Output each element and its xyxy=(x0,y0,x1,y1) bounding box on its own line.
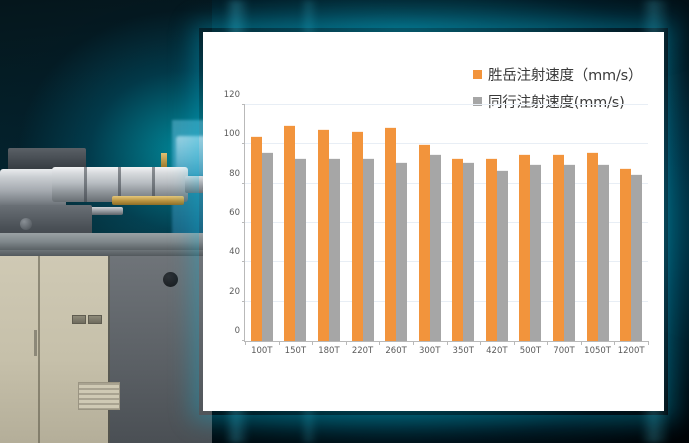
x-tick-mark-6 xyxy=(447,341,448,345)
bar-150T-series-0[interactable] xyxy=(284,125,295,341)
photo-brass-post xyxy=(161,153,167,167)
bar-group xyxy=(279,105,313,341)
bar-700T-series-1[interactable] xyxy=(564,164,575,341)
x-tick-label-220T: 220T xyxy=(346,346,380,356)
photo-barrel-band-1 xyxy=(84,167,87,202)
bar-groups xyxy=(245,105,648,341)
bar-260T-series-1[interactable] xyxy=(396,162,407,341)
x-tick-mark-0 xyxy=(245,341,246,345)
bar-1200T-series-1[interactable] xyxy=(631,174,642,341)
bar-420T-series-1[interactable] xyxy=(497,170,508,341)
x-tick-label-1050T: 1050T xyxy=(581,346,615,356)
x-tick-label-350T: 350T xyxy=(446,346,480,356)
bar-420T-series-0[interactable] xyxy=(486,158,497,341)
photo-cabinet-button-2 xyxy=(88,315,102,324)
x-tick-label-300T: 300T xyxy=(413,346,447,356)
bar-group xyxy=(581,105,615,341)
bar-group xyxy=(547,105,581,341)
bar-350T-series-1[interactable] xyxy=(463,162,474,341)
bar-1050T-series-1[interactable] xyxy=(598,164,609,341)
x-tick-label-700T: 700T xyxy=(547,346,581,356)
bar-100T-series-1[interactable] xyxy=(262,152,273,341)
bar-500T-series-1[interactable] xyxy=(530,164,541,341)
bar-group xyxy=(480,105,514,341)
photo-brass-rod xyxy=(112,196,184,205)
x-tick-label-100T: 100T xyxy=(245,346,279,356)
photo-cabinet-handle xyxy=(34,330,37,356)
bar-group xyxy=(245,105,279,341)
x-tick-mark-8 xyxy=(514,341,515,345)
bar-group xyxy=(346,105,380,341)
bar-group xyxy=(312,105,346,341)
bar-1200T-series-0[interactable] xyxy=(620,168,631,341)
x-tick-label-420T: 420T xyxy=(480,346,514,356)
bar-180T-series-0[interactable] xyxy=(318,129,329,341)
plot-area: 020406080100120 xyxy=(245,105,648,341)
slide-root: 胜岳注射速度（mm/s） 同行注射速度(mm/s) 02040608010012… xyxy=(0,0,689,443)
x-tick-mark-2 xyxy=(312,341,313,345)
bar-300T-series-0[interactable] xyxy=(419,144,430,341)
bar-group xyxy=(413,105,447,341)
photo-cabinet-seam-1 xyxy=(38,256,40,443)
x-tick-mark-5 xyxy=(413,341,414,345)
bar-1050T-series-0[interactable] xyxy=(587,152,598,341)
x-tick-mark-7 xyxy=(480,341,481,345)
x-tick-mark-1 xyxy=(279,341,280,345)
x-tick-mark-4 xyxy=(379,341,380,345)
x-tick-label-260T: 260T xyxy=(379,346,413,356)
bar-group xyxy=(446,105,480,341)
bar-180T-series-1[interactable] xyxy=(329,158,340,341)
photo-cabinet-dark xyxy=(108,256,212,443)
photo-motor-circle xyxy=(20,218,32,230)
bar-150T-series-1[interactable] xyxy=(295,158,306,341)
bar-700T-series-0[interactable] xyxy=(553,154,564,341)
bar-500T-series-0[interactable] xyxy=(519,154,530,341)
bar-100T-series-0[interactable] xyxy=(251,136,262,341)
y-tick-label-120: 120 xyxy=(224,90,240,100)
legend-swatch-icon-0 xyxy=(473,70,482,79)
x-tick-mark-11 xyxy=(614,341,615,345)
chart-inner: 胜岳注射速度（mm/s） 同行注射速度(mm/s) 02040608010012… xyxy=(203,32,664,411)
bar-350T-series-0[interactable] xyxy=(452,158,463,341)
x-tick-label-500T: 500T xyxy=(514,346,548,356)
photo-cabinet-button-1 xyxy=(72,315,86,324)
x-tick-label-180T: 180T xyxy=(312,346,346,356)
bar-220T-series-0[interactable] xyxy=(352,131,363,341)
bar-260T-series-0[interactable] xyxy=(385,127,396,341)
chart-card: 胜岳注射速度（mm/s） 同行注射速度(mm/s) 02040608010012… xyxy=(203,32,664,411)
x-tick-mark-12 xyxy=(648,341,649,345)
y-tick-label-60: 60 xyxy=(229,208,240,218)
x-tick-label-150T: 150T xyxy=(279,346,313,356)
legend-label-0: 胜岳注射速度（mm/s） xyxy=(488,64,642,85)
legend-item-0[interactable]: 胜岳注射速度（mm/s） xyxy=(473,64,642,85)
y-tick-label-40: 40 xyxy=(229,247,240,257)
photo-cabinet-seam-2 xyxy=(108,256,110,443)
y-tick-label-100: 100 xyxy=(224,129,240,139)
x-tick-mark-9 xyxy=(547,341,548,345)
x-tick-mark-3 xyxy=(346,341,347,345)
bar-group xyxy=(379,105,413,341)
photo-cabinet-vent xyxy=(78,382,120,410)
y-tick-label-20: 20 xyxy=(229,287,240,297)
x-tick-label-1200T: 1200T xyxy=(614,346,648,356)
bar-group xyxy=(614,105,648,341)
machine-photo xyxy=(0,0,212,443)
bar-300T-series-1[interactable] xyxy=(430,154,441,341)
photo-cabinet-knob xyxy=(163,272,178,287)
x-axis-labels: 100T150T180T220T260T300T350T420T500T700T… xyxy=(245,346,648,356)
bar-group xyxy=(514,105,548,341)
x-tick-mark-10 xyxy=(581,341,582,345)
y-tick-label-80: 80 xyxy=(229,169,240,179)
bar-220T-series-1[interactable] xyxy=(363,158,374,341)
y-tick-label-0: 0 xyxy=(235,326,240,336)
